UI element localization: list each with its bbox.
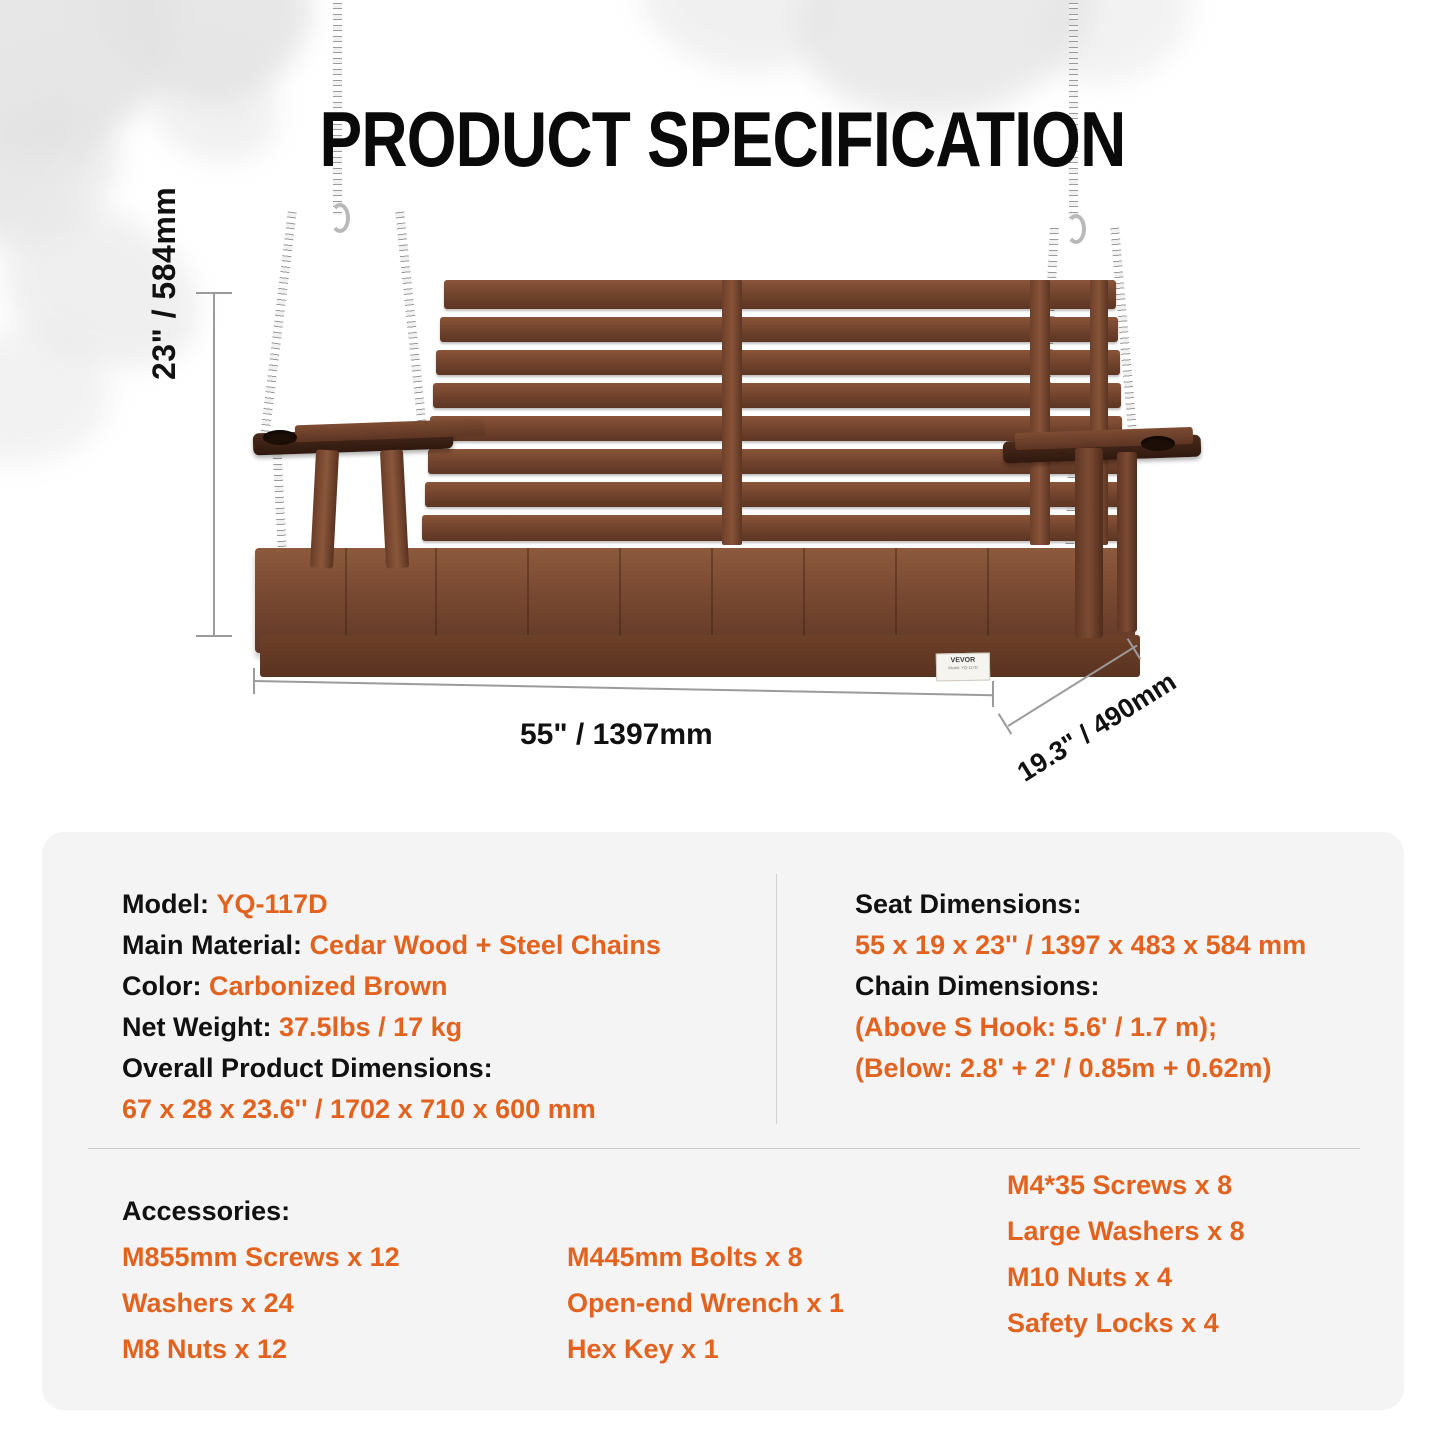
spec-key: Main Material: [122, 930, 302, 960]
spec-row-color: Color: Carbonized Brown [122, 966, 777, 1007]
backrest-stile [722, 280, 742, 545]
backrest-slat [433, 383, 1121, 408]
specification-card: Model: YQ-117D Main Material: Cedar Wood… [42, 832, 1404, 1410]
accessory-item: M10 Nuts x 4 [1007, 1254, 1245, 1300]
accessory-item: Washers x 24 [122, 1280, 400, 1326]
spec-key: Model: [122, 889, 209, 919]
backrest-stile [1030, 280, 1050, 545]
height-dimension-label: 23" / 584mm [146, 187, 183, 380]
spec-value: 37.5lbs / 17 kg [279, 1012, 462, 1042]
seat-front-rail [260, 635, 1140, 677]
height-dimension-tick-top [196, 292, 232, 294]
accessories-heading: Accessories: [122, 1188, 400, 1234]
accessories-section: Accessories: M855mm Screws x 12 Washers … [42, 1162, 1404, 1410]
width-dimension-tick-right [992, 681, 994, 707]
accessory-item: M445mm Bolts x 8 [567, 1234, 844, 1280]
accessories-column-2: M445mm Bolts x 8 Open-end Wrench x 1 Hex… [567, 1234, 844, 1372]
spec-row-chain-above: (Above S Hook: 5.6' / 1.7 m); [855, 1007, 1404, 1048]
accessory-item: M855mm Screws x 12 [122, 1234, 400, 1280]
spec-value: Cedar Wood + Steel Chains [310, 930, 661, 960]
armrest-left-leg-back [380, 449, 409, 568]
vevor-brand-label: VEVOR Model: YQ-117D [936, 653, 990, 682]
vevor-brand-subtext: Model: YQ-117D [937, 665, 989, 671]
spec-row-seat-dimensions: Seat Dimensions: [855, 884, 1404, 925]
backrest-slat [436, 350, 1120, 375]
height-dimension-tick-bottom [196, 635, 232, 637]
cup-holder-left [263, 430, 297, 445]
cup-holder-right [1141, 436, 1175, 451]
spec-key: Color: [122, 971, 201, 1001]
width-dimension-label: 55" / 1397mm [520, 718, 713, 752]
accessory-item: Safety Locks x 4 [1007, 1300, 1245, 1346]
spec-row-main-material: Main Material: Cedar Wood + Steel Chains [122, 925, 777, 966]
spec-key: Overall Product Dimensions: [122, 1053, 493, 1083]
spec-key: Seat Dimensions: [855, 889, 1082, 919]
spec-value: Carbonized Brown [209, 971, 448, 1001]
accessory-item: Large Washers x 8 [1007, 1208, 1245, 1254]
spec-row-chain-dimensions: Chain Dimensions: [855, 966, 1404, 1007]
backrest-slat [422, 515, 1122, 541]
spec-row-overall-dimensions-value: 67 x 28 x 23.6'' / 1702 x 710 x 600 mm [122, 1089, 777, 1130]
spec-key: Net Weight: [122, 1012, 272, 1042]
backrest-slat [444, 280, 1116, 309]
spec-key: Chain Dimensions: [855, 971, 1100, 1001]
backrest [430, 280, 1130, 550]
spec-row-overall-dimensions: Overall Product Dimensions: [122, 1048, 777, 1089]
accessory-item: Hex Key x 1 [567, 1326, 844, 1372]
spec-row-net-weight: Net Weight: 37.5lbs / 17 kg [122, 1007, 777, 1048]
vevor-brand-text: VEVOR [951, 657, 976, 664]
spec-row-seat-dimensions-value: 55 x 19 x 23'' / 1397 x 483 x 584 mm [855, 925, 1404, 966]
spec-column-right: Seat Dimensions: 55 x 19 x 23'' / 1397 x… [777, 832, 1404, 1142]
accessory-item: M8 Nuts x 12 [122, 1326, 400, 1372]
accessory-item: Open-end Wrench x 1 [567, 1280, 844, 1326]
side-post-right [1075, 448, 1103, 638]
spec-row-model: Model: YQ-117D [122, 884, 777, 925]
spec-column-left: Model: YQ-117D Main Material: Cedar Wood… [42, 832, 777, 1142]
s-hook-left-icon [330, 203, 350, 233]
vertical-divider [776, 874, 777, 1124]
accessories-column-1: Accessories: M855mm Screws x 12 Washers … [122, 1188, 400, 1372]
backrest-slat [425, 482, 1123, 507]
spec-value: YQ-117D [217, 889, 328, 919]
accessory-item: M4*35 Screws x 8 [1007, 1162, 1245, 1208]
spec-row-chain-below: (Below: 2.8' + 2' / 0.85m + 0.62m) [855, 1048, 1404, 1089]
accessories-column-3: M4*35 Screws x 8 Large Washers x 8 M10 N… [1007, 1162, 1245, 1346]
horizontal-divider [88, 1148, 1360, 1149]
height-dimension-line [213, 292, 215, 636]
specification-columns: Model: YQ-117D Main Material: Cedar Wood… [42, 832, 1404, 1142]
backrest-slat [440, 317, 1118, 342]
s-hook-right-icon [1066, 214, 1086, 244]
side-post-right-inner [1117, 452, 1137, 632]
page-title: PRODUCT SPECIFICATION [130, 94, 1315, 185]
porch-swing-body [255, 280, 1175, 690]
width-dimension-tick-left [253, 668, 255, 694]
